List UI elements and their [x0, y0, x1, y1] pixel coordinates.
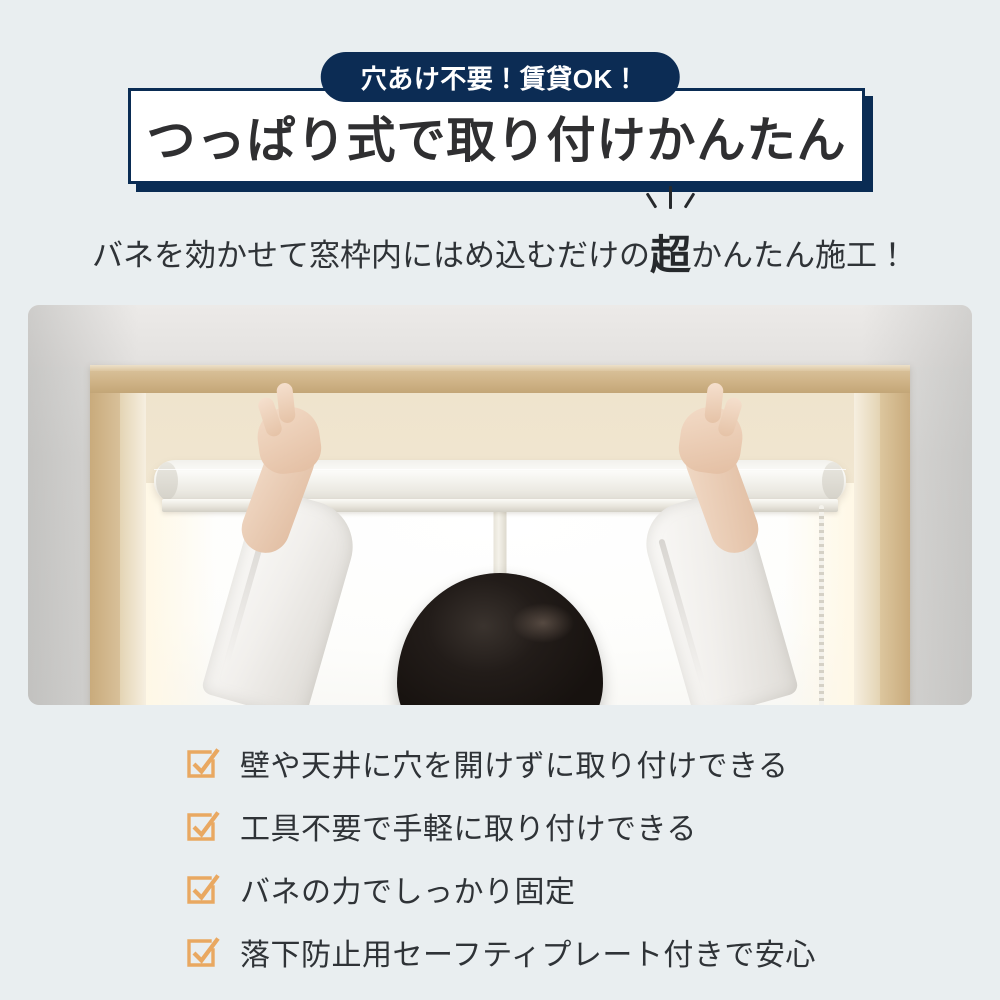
person-arm-right	[684, 405, 804, 705]
blind-end-cap-right	[822, 462, 844, 500]
checkbox-checked-icon	[186, 747, 220, 779]
window-jamb-left	[120, 393, 146, 705]
ceiling	[28, 305, 972, 367]
frame-left	[90, 365, 120, 705]
list-item: バネの力でしっかり固定	[186, 857, 886, 920]
person-arm-left	[196, 405, 316, 705]
blind-end-cap-left	[156, 462, 178, 500]
list-item-label: 壁や天井に穴を開けずに取り付けできる	[240, 741, 788, 785]
frame-top	[90, 365, 910, 393]
subtitle-emphasis-wrap: 超	[650, 218, 691, 278]
sparkle-icon	[641, 186, 701, 216]
checkbox-checked-icon	[186, 936, 220, 968]
bead-chain	[819, 505, 824, 705]
subtitle-emphasis: 超	[650, 232, 691, 278]
checkbox-checked-icon	[186, 873, 220, 905]
list-item: 工具不要で手軽に取り付けできる	[186, 794, 886, 857]
list-item: 壁や天井に穴を開けずに取り付けできる	[186, 731, 886, 794]
hair-highlight	[512, 603, 574, 643]
window-jamb-right	[854, 393, 880, 705]
feature-list: 壁や天井に穴を開けずに取り付けできる 工具不要で手軽に取り付けできる バネの力で…	[186, 731, 886, 983]
status-badge: 穴あけ不要！賃貸OK！	[321, 52, 680, 102]
frame-top-highlight	[90, 365, 910, 371]
subtitle-after: かんたん施工！	[691, 238, 908, 273]
subtitle: バネを効かせて窓枠内にはめ込むだけの超かんたん施工！	[0, 218, 1000, 278]
subtitle-before: バネを効かせて窓枠内にはめ込むだけの	[92, 238, 650, 273]
header-banner: つっぱり式で取り付けかんたん 穴あけ不要！賃貸OK！	[0, 26, 1000, 176]
page-title: つっぱり式で取り付けかんたん	[128, 88, 865, 184]
list-item-label: バネの力でしっかり固定	[240, 867, 576, 911]
promo-page: つっぱり式で取り付けかんたん 穴あけ不要！賃貸OK！ バネを効かせて窓枠内にはめ…	[0, 0, 1000, 1000]
product-installation-photo	[28, 305, 972, 705]
list-item: 落下防止用セーフティプレート付きで安心	[186, 920, 886, 983]
list-item-label: 工具不要で手軽に取り付けできる	[240, 804, 697, 848]
checkbox-checked-icon	[186, 810, 220, 842]
list-item-label: 落下防止用セーフティプレート付きで安心	[240, 930, 816, 974]
frame-right	[880, 365, 910, 705]
